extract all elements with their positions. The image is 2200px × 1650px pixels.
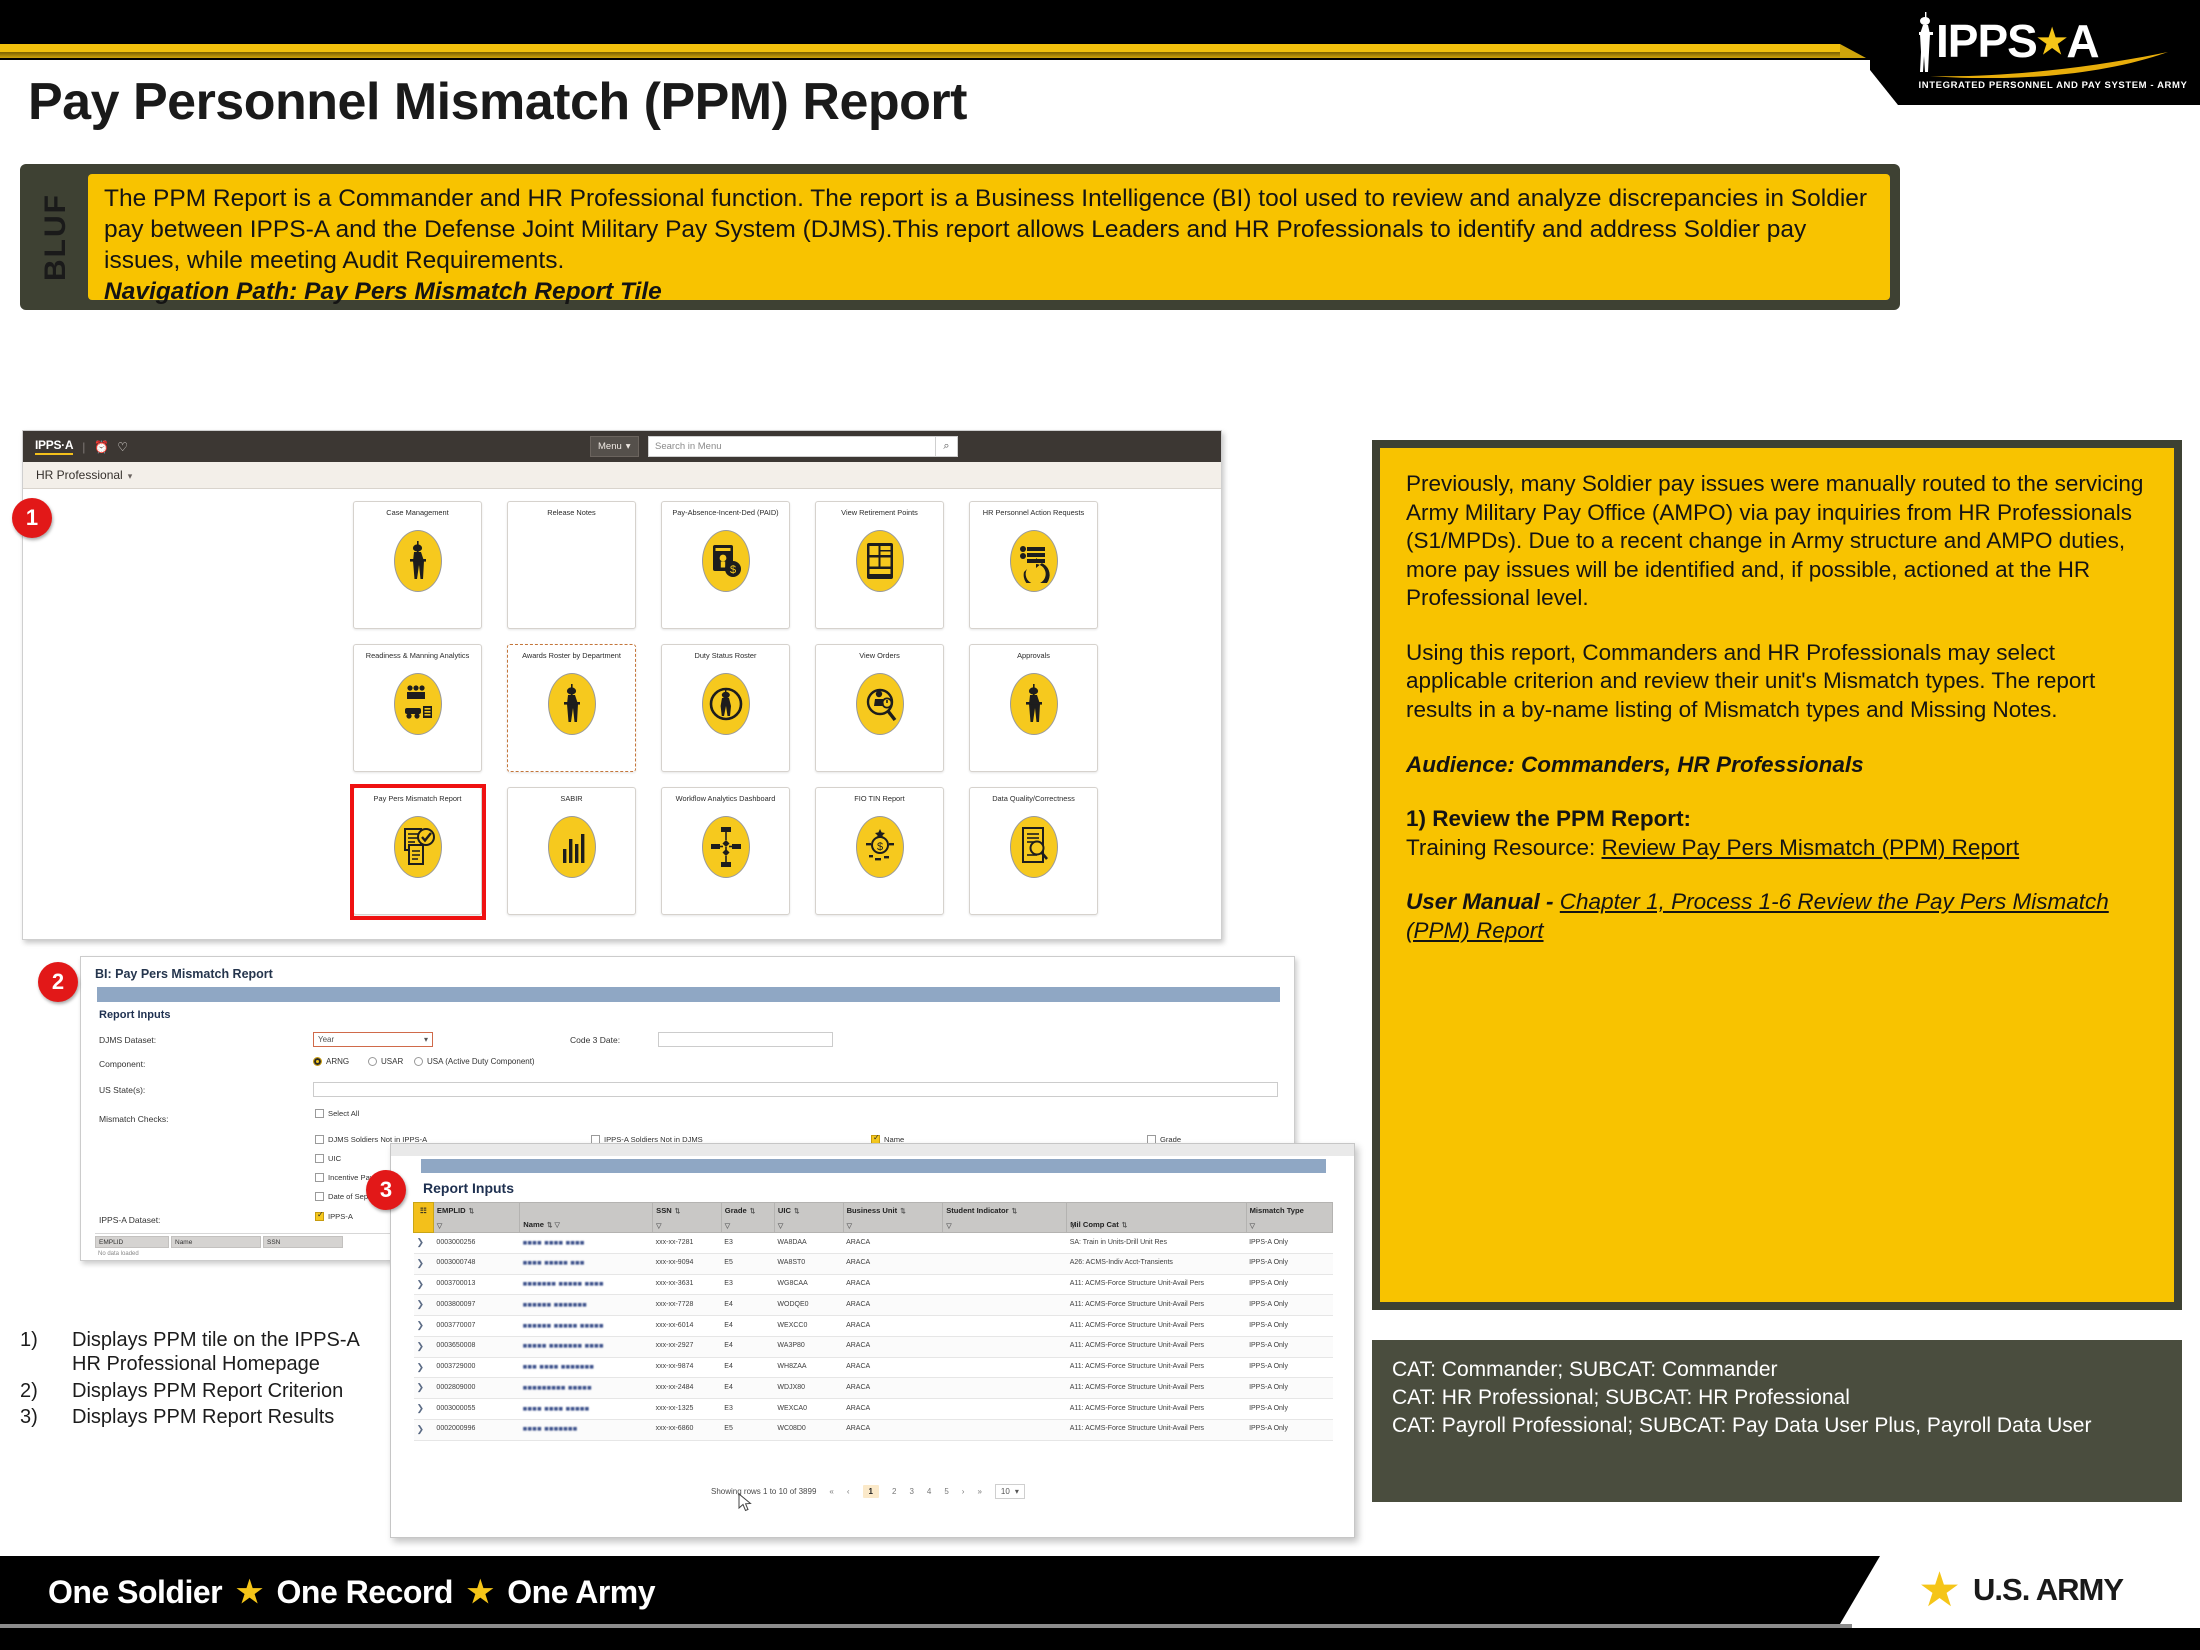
cell-business-unit: ARACA bbox=[843, 1274, 943, 1295]
note-number: 2) bbox=[20, 1379, 72, 1403]
checkbox-icon bbox=[315, 1212, 324, 1221]
cell-ssn: xxx-xx-6014 bbox=[653, 1316, 722, 1337]
chevron-down-icon: ▾ bbox=[424, 1035, 428, 1044]
tile-label: Case Management bbox=[357, 509, 479, 518]
component-radio-arng[interactable]: ARNG bbox=[313, 1057, 349, 1066]
us-army-text: U.S. ARMY bbox=[1973, 1572, 2123, 1608]
fio-tin-icon: $ bbox=[856, 816, 904, 878]
radio-dot-icon bbox=[313, 1057, 322, 1066]
filter-icon[interactable]: ▽ bbox=[656, 1222, 661, 1230]
cell-uic: WEXCA0 bbox=[774, 1399, 843, 1420]
col-label: SSN bbox=[656, 1206, 672, 1215]
component-label: Component: bbox=[99, 1059, 145, 1069]
sort-icon: ⇅ bbox=[675, 1208, 680, 1215]
preview-col-ssn: SSN bbox=[263, 1236, 343, 1248]
cell-ssn: xxx-xx-9874 bbox=[653, 1357, 722, 1378]
cell-student-indicator bbox=[943, 1419, 1067, 1440]
cell-business-unit: ARACA bbox=[843, 1399, 943, 1420]
col-label: EMPLID bbox=[437, 1206, 466, 1215]
cell-ssn: xxx-xx-1325 bbox=[653, 1399, 722, 1420]
checkbox-icon bbox=[315, 1109, 324, 1118]
search-icon[interactable]: ⌕ bbox=[935, 436, 958, 457]
tile-label: Pay-Absence-Incent-Ded (PAID) bbox=[665, 509, 787, 518]
tile-grid: Case ManagementRelease NotesPay-Absence-… bbox=[353, 501, 1098, 915]
row-expand-icon[interactable]: ❯ bbox=[414, 1233, 434, 1254]
page-button-2[interactable]: 2 bbox=[892, 1487, 896, 1496]
sort-icon: ⇅ bbox=[547, 1222, 552, 1229]
footer-tag-3: One Army bbox=[507, 1574, 655, 1611]
tile-label: Readiness & Manning Analytics bbox=[357, 652, 479, 661]
cell-name: ■■■■■■■ ■■■■■ ■■■■ bbox=[520, 1274, 653, 1295]
cell-student-indicator bbox=[943, 1233, 1067, 1254]
footer-tagline: One Soldier ★ One Record ★ One Army bbox=[48, 1574, 655, 1611]
page-button-4[interactable]: 4 bbox=[927, 1487, 931, 1496]
sort-icon: ⇅ bbox=[469, 1208, 474, 1215]
audience-text: Audience: Commanders, HR Professionals bbox=[1406, 751, 2148, 780]
form-blue-bar bbox=[97, 987, 1280, 1002]
results-heading: Report Inputs bbox=[423, 1180, 514, 1196]
filter-icon[interactable]: ▽ bbox=[1070, 1222, 1075, 1230]
row-expand-icon[interactable]: ❯ bbox=[414, 1336, 434, 1357]
cell-uic: WEXCC0 bbox=[774, 1316, 843, 1337]
cell-emplid: 0003000748 bbox=[433, 1253, 519, 1274]
tile-fio-tin-report[interactable]: FIO TIN Report$ bbox=[815, 787, 944, 915]
tile-pay-pers-mismatch-report[interactable]: Pay Pers Mismatch Report bbox=[353, 787, 482, 915]
filter-icon[interactable]: ▽ bbox=[725, 1222, 730, 1230]
cell-mismatch-type: IPPS-A Only bbox=[1246, 1399, 1332, 1420]
preview-col-emplid: EMPLID bbox=[95, 1236, 169, 1248]
djms-dataset-value: Year bbox=[318, 1035, 334, 1044]
row-expand-icon[interactable]: ❯ bbox=[414, 1378, 434, 1399]
cell-business-unit: ARACA bbox=[843, 1378, 943, 1399]
footer-bottom-bar bbox=[0, 1628, 2200, 1650]
component-radio-usar[interactable]: USAR bbox=[368, 1057, 403, 1066]
cat-line-2: CAT: HR Professional; SUBCAT: HR Profess… bbox=[1392, 1384, 2162, 1412]
mismatch-checks-label: Mismatch Checks: bbox=[99, 1114, 168, 1124]
right-info-panel-body: Previously, many Soldier pay issues were… bbox=[1380, 448, 2174, 1302]
cell-mismatch-type: IPPS-A Only bbox=[1246, 1357, 1332, 1378]
cell-mil-comp-cat: SA: Train in Units-Drill Unit Res bbox=[1067, 1233, 1246, 1254]
row-expand-icon[interactable]: ❯ bbox=[414, 1419, 434, 1440]
cell-ssn: xxx-xx-6860 bbox=[653, 1419, 722, 1440]
filter-icon[interactable]: ▽ bbox=[847, 1222, 852, 1230]
navbar-brand[interactable]: IPPS·A bbox=[35, 438, 73, 455]
tile-label: Duty Status Roster bbox=[665, 652, 787, 661]
cell-uic: WA3P80 bbox=[774, 1336, 843, 1357]
awards-soldier-icon bbox=[548, 673, 596, 735]
cell-mil-comp-cat: A11: ACMS-Force Structure Unit-Avail Per… bbox=[1067, 1357, 1246, 1378]
callout-notes-list: 1) Displays PPM tile on the IPPS-A HR Pr… bbox=[20, 1328, 370, 1432]
code3-date-input[interactable] bbox=[658, 1032, 833, 1047]
note-text: Displays PPM Report Criterion bbox=[72, 1379, 343, 1403]
army-star-icon: ★ bbox=[1918, 1562, 1961, 1618]
soldier-icon bbox=[394, 530, 442, 592]
role-selector[interactable]: HR Professional▾ bbox=[36, 468, 132, 482]
step1-title: 1) Review the PPM Report: bbox=[1406, 806, 1691, 831]
ipps-dataset-checkbox[interactable]: IPPS-A bbox=[315, 1212, 353, 1221]
sort-icon: ⇅ bbox=[1012, 1208, 1017, 1215]
cell-student-indicator bbox=[943, 1378, 1067, 1399]
col-name[interactable]: Name⇅ ▽ bbox=[520, 1203, 653, 1233]
tile-label: Pay Pers Mismatch Report bbox=[357, 795, 479, 804]
training-resource-label: Training Resource: bbox=[1406, 835, 1602, 860]
cell-name: ■■■■■■ ■■■■■ ■■■■■ bbox=[520, 1316, 653, 1337]
cell-name: ■■■■ ■■■■■■■ bbox=[520, 1419, 653, 1440]
cell-ssn: xxx-xx-2927 bbox=[653, 1336, 722, 1357]
showing-rows-text: Showing rows 1 to 10 of 3899 bbox=[711, 1487, 816, 1496]
sort-icon: ⇅ bbox=[794, 1208, 799, 1215]
tile-label: HR Personnel Action Requests bbox=[973, 509, 1095, 518]
cell-emplid: 0002809000 bbox=[433, 1378, 519, 1399]
select-all-checkbox[interactable]: Select All bbox=[315, 1109, 359, 1118]
col-label: Mismatch Type bbox=[1250, 1206, 1304, 1215]
logo-a-text: A bbox=[2066, 15, 2098, 67]
note-number: 3) bbox=[20, 1405, 72, 1429]
cell-ssn: xxx-xx-7728 bbox=[653, 1295, 722, 1316]
menu-button[interactable]: Menu ▾ bbox=[590, 436, 639, 457]
col-label: Business Unit bbox=[847, 1206, 898, 1215]
cell-student-indicator bbox=[943, 1399, 1067, 1420]
col-uic[interactable]: UIC⇅ ▽ bbox=[774, 1203, 843, 1233]
cell-business-unit: ARACA bbox=[843, 1419, 943, 1440]
cell-business-unit: ARACA bbox=[843, 1295, 943, 1316]
ipps-a-logo: IPPS★A INTEGRATED PERSONNEL AND PAY SYST… bbox=[1870, 0, 2200, 105]
tile-data-quality-correctness[interactable]: Data Quality/Correctness bbox=[969, 787, 1098, 915]
preview-col-label: Name bbox=[175, 1239, 192, 1246]
row-expand-icon[interactable]: ❯ bbox=[414, 1274, 434, 1295]
col-label: Mil Comp Cat bbox=[1070, 1220, 1119, 1229]
component-option-label: ARNG bbox=[326, 1057, 349, 1066]
tile-label: View Orders bbox=[819, 652, 941, 661]
cell-mil-comp-cat: A11: ACMS-Force Structure Unit-Avail Per… bbox=[1067, 1316, 1246, 1337]
logo-star-icon: ★ bbox=[2037, 25, 2066, 59]
view-orders-icon bbox=[856, 673, 904, 735]
tile-label: FIO TIN Report bbox=[819, 795, 941, 804]
table-row[interactable]: ❯0002809000■■■■■■■■■ ■■■■■xxx-xx-2484E4W… bbox=[414, 1378, 1333, 1399]
checkbox-icon bbox=[315, 1192, 324, 1201]
footer-tag-1: One Soldier bbox=[48, 1574, 222, 1611]
menu-button-label: Menu bbox=[598, 441, 622, 452]
cell-mismatch-type: IPPS-A Only bbox=[1246, 1274, 1332, 1295]
tile-release-notes[interactable]: Release Notes bbox=[507, 501, 636, 629]
tile-sabir[interactable]: SABIR bbox=[507, 787, 636, 915]
cat-line-3: CAT: Payroll Professional; SUBCAT: Pay D… bbox=[1392, 1412, 2162, 1440]
cell-student-indicator bbox=[943, 1274, 1067, 1295]
pay-dollar-icon: $ bbox=[702, 530, 750, 592]
us-states-label: US State(s): bbox=[99, 1085, 145, 1095]
list-item: 1) Displays PPM tile on the IPPS-A HR Pr… bbox=[20, 1328, 370, 1377]
list-item: 3) Displays PPM Report Results bbox=[20, 1405, 370, 1429]
cell-mil-comp-cat: A11: ACMS-Force Structure Unit-Avail Per… bbox=[1067, 1274, 1246, 1295]
preview-no-data: No data loaded bbox=[98, 1251, 139, 1257]
table-row[interactable]: ❯0003770007■■■■■■ ■■■■■ ■■■■■xxx-xx-6014… bbox=[414, 1316, 1333, 1337]
chevron-down-icon: ▾ bbox=[1015, 1487, 1019, 1496]
results-table: ☷ EMPLID⇅ ▽ Name⇅ ▽ SSN⇅ ▽ Grade⇅ ▽ bbox=[413, 1202, 1333, 1441]
row-expand-icon[interactable]: ❯ bbox=[414, 1357, 434, 1378]
role-bar: HR Professional▾ bbox=[23, 462, 1221, 489]
cell-grade: E4 bbox=[721, 1357, 774, 1378]
table-row[interactable]: ❯0003800097■■■■■■ ■■■■■■■xxx-xx-7728E4WO… bbox=[414, 1295, 1333, 1316]
cell-mil-comp-cat: A11: ACMS-Force Structure Unit-Avail Per… bbox=[1067, 1336, 1246, 1357]
right-info-panel: Previously, many Soldier pay issues were… bbox=[1372, 440, 2182, 1310]
page-size-value: 10 bbox=[1001, 1487, 1010, 1496]
search-input[interactable]: Search in Menu bbox=[648, 436, 958, 457]
col-grade[interactable]: Grade⇅ ▽ bbox=[721, 1203, 774, 1233]
tile-label: Workflow Analytics Dashboard bbox=[665, 795, 787, 804]
table-row[interactable]: ❯0003000055■■■■ ■■■■ ■■■■■xxx-xx-1325E3W… bbox=[414, 1399, 1333, 1420]
cell-business-unit: ARACA bbox=[843, 1253, 943, 1274]
readiness-icon bbox=[394, 673, 442, 735]
bluf-body: The PPM Report is a Commander and HR Pro… bbox=[88, 174, 1890, 300]
list-item: 2) Displays PPM Report Criterion bbox=[20, 1379, 370, 1403]
col-mil-comp-cat[interactable]: Mil Comp Cat⇅ ▽ bbox=[1067, 1203, 1246, 1233]
row-expand-icon[interactable]: ❯ bbox=[414, 1399, 434, 1420]
cell-emplid: 0003800097 bbox=[433, 1295, 519, 1316]
right-paragraph-2: Using this report, Commanders and HR Pro… bbox=[1406, 639, 2148, 725]
sort-icon: ⇅ bbox=[1122, 1222, 1127, 1229]
tile-view-orders[interactable]: View Orders bbox=[815, 644, 944, 772]
approvals-soldier-icon bbox=[1010, 673, 1058, 735]
tile-workflow-analytics-dashboard[interactable]: Workflow Analytics Dashboard bbox=[661, 787, 790, 915]
role-label: HR Professional bbox=[36, 468, 123, 482]
cell-mil-comp-cat: A11: ACMS-Force Structure Unit-Avail Per… bbox=[1067, 1399, 1246, 1420]
row-expand-icon[interactable]: ❯ bbox=[414, 1316, 434, 1337]
cell-uic: WC08D0 bbox=[774, 1419, 843, 1440]
cell-mil-comp-cat: A11: ACMS-Force Structure Unit-Avail Per… bbox=[1067, 1378, 1246, 1399]
heart-icon[interactable]: ♡ bbox=[117, 440, 128, 454]
chevron-down-icon: ▾ bbox=[626, 441, 631, 452]
cell-grade: E4 bbox=[721, 1295, 774, 1316]
cell-grade: E4 bbox=[721, 1316, 774, 1337]
cell-name: ■■■■■ ■■■■■■■ ■■■■ bbox=[520, 1336, 653, 1357]
table-row[interactable]: ❯0003729000■■■ ■■■■ ■■■■■■■xxx-xx-9874E4… bbox=[414, 1357, 1333, 1378]
col-label: UIC bbox=[778, 1206, 791, 1215]
mismatch-report-icon bbox=[394, 816, 442, 878]
duty-status-icon bbox=[702, 673, 750, 735]
tile-label: Data Quality/Correctness bbox=[973, 795, 1095, 804]
cell-name: ■■■■■■■■■ ■■■■■ bbox=[520, 1378, 653, 1399]
col-expand-toggle[interactable]: ☷ bbox=[414, 1203, 434, 1233]
us-army-logo: ★ U.S. ARMY bbox=[1880, 1556, 2200, 1624]
chevron-down-icon: ▾ bbox=[128, 471, 133, 481]
footer: One Soldier ★ One Record ★ One Army ★ U.… bbox=[0, 1552, 2200, 1650]
note-text: Displays PPM tile on the IPPS-A HR Profe… bbox=[72, 1328, 370, 1377]
cell-uic: WA8ST0 bbox=[774, 1253, 843, 1274]
page-button-1[interactable]: 1 bbox=[863, 1485, 879, 1498]
cell-grade: E5 bbox=[721, 1419, 774, 1440]
next-page-button[interactable]: › bbox=[962, 1487, 965, 1496]
checkbox-icon bbox=[315, 1154, 324, 1163]
radio-dot-icon bbox=[414, 1057, 423, 1066]
svg-text:$: $ bbox=[729, 564, 735, 576]
cell-grade: E4 bbox=[721, 1336, 774, 1357]
cell-name: ■■■ ■■■■ ■■■■■■■ bbox=[520, 1357, 653, 1378]
check-label: UIC bbox=[328, 1154, 341, 1163]
cell-ssn: xxx-xx-7281 bbox=[653, 1233, 722, 1254]
page-title: Pay Personnel Mismatch (PPM) Report bbox=[28, 72, 967, 132]
retirement-points-icon bbox=[856, 530, 904, 592]
bi-report-title: BI: Pay Pers Mismatch Report bbox=[95, 967, 273, 981]
filter-icon[interactable]: ▽ bbox=[946, 1222, 951, 1230]
col-emplid[interactable]: EMPLID⇅ ▽ bbox=[433, 1203, 519, 1233]
cell-student-indicator bbox=[943, 1316, 1067, 1337]
cell-mismatch-type: IPPS-A Only bbox=[1246, 1253, 1332, 1274]
sort-icon: ⇅ bbox=[750, 1208, 755, 1215]
tile-view-retirement-points[interactable]: View Retirement Points bbox=[815, 501, 944, 629]
cell-uic: WDJX80 bbox=[774, 1378, 843, 1399]
page-button-3[interactable]: 3 bbox=[909, 1487, 913, 1496]
first-page-button[interactable]: « bbox=[829, 1487, 833, 1496]
filter-icon[interactable]: ▽ bbox=[1250, 1222, 1255, 1230]
cell-uic: WA8DAA bbox=[774, 1233, 843, 1254]
cell-mismatch-type: IPPS-A Only bbox=[1246, 1295, 1332, 1316]
col-label: Name bbox=[523, 1220, 544, 1229]
callout-marker-2: 2 bbox=[38, 962, 78, 1002]
component-option-label: USA (Active Duty Component) bbox=[427, 1057, 535, 1066]
pagination: Showing rows 1 to 10 of 3899 « ‹ 1 2 3 4… bbox=[711, 1484, 1025, 1499]
cell-name: ■■■■ ■■■■ ■■■■ bbox=[520, 1233, 653, 1254]
cell-uic: WG8CAA bbox=[774, 1274, 843, 1295]
djms-dataset-select[interactable]: Year ▾ bbox=[313, 1032, 433, 1047]
bluf-label: BLUF bbox=[30, 174, 82, 300]
col-mismatch-type[interactable]: Mismatch Type ▽ bbox=[1246, 1203, 1332, 1233]
filter-icon[interactable]: ▽ bbox=[555, 1222, 560, 1229]
cell-emplid: 0003729000 bbox=[433, 1357, 519, 1378]
tile-readiness-manning-analytics[interactable]: Readiness & Manning Analytics bbox=[353, 644, 482, 772]
clock-icon[interactable]: ⏰ bbox=[94, 440, 109, 454]
table-row[interactable]: ❯0003000748■■■■ ■■■■■ ■■■xxx-xx-9094E5WA… bbox=[414, 1253, 1333, 1274]
col-label: Grade bbox=[725, 1206, 747, 1215]
cell-student-indicator bbox=[943, 1336, 1067, 1357]
cell-emplid: 0003770007 bbox=[433, 1316, 519, 1337]
navbar-divider: | bbox=[82, 440, 85, 454]
logo-tagline: INTEGRATED PERSONNEL AND PAY SYSTEM - AR… bbox=[1918, 80, 2188, 91]
cell-uic: WODQE0 bbox=[774, 1295, 843, 1316]
col-label: Student Indicator bbox=[946, 1206, 1008, 1215]
cell-emplid: 0002000996 bbox=[433, 1419, 519, 1440]
tile-approvals[interactable]: Approvals bbox=[969, 644, 1098, 772]
checkbox-icon bbox=[315, 1135, 324, 1144]
action-request-icon bbox=[1010, 530, 1058, 592]
cell-mismatch-type: IPPS-A Only bbox=[1246, 1316, 1332, 1337]
workflow-icon bbox=[702, 816, 750, 878]
screenshot-homepage-tiles: IPPS·A | ⏰ ♡ Menu ▾ Search in Menu ⌕ HR … bbox=[22, 430, 1222, 940]
cell-name: ■■■■■■ ■■■■■■■ bbox=[520, 1295, 653, 1316]
row-expand-icon[interactable]: ❯ bbox=[414, 1295, 434, 1316]
cell-business-unit: ARACA bbox=[843, 1316, 943, 1337]
tile-label: Release Notes bbox=[511, 509, 633, 518]
tile-label: View Retirement Points bbox=[819, 509, 941, 518]
table-row[interactable]: ❯0003700013■■■■■■■ ■■■■■ ■■■■xxx-xx-3631… bbox=[414, 1274, 1333, 1295]
page-button-5[interactable]: 5 bbox=[944, 1487, 948, 1496]
tile-hr-personnel-action-requests[interactable]: HR Personnel Action Requests bbox=[969, 501, 1098, 629]
col-business-unit[interactable]: Business Unit⇅ ▽ bbox=[843, 1203, 943, 1233]
ipps-dataset-check-label: IPPS-A bbox=[328, 1212, 353, 1221]
tile-label: SABIR bbox=[511, 795, 633, 804]
djms-dataset-label: DJMS Dataset: bbox=[99, 1035, 156, 1045]
cell-grade: E3 bbox=[721, 1274, 774, 1295]
star-icon: ★ bbox=[467, 1575, 493, 1610]
training-resource-link[interactable]: Review Pay Pers Mismatch (PPM) Report bbox=[1602, 835, 2020, 860]
cell-student-indicator bbox=[943, 1357, 1067, 1378]
col-ssn[interactable]: SSN⇅ ▽ bbox=[653, 1203, 722, 1233]
cell-emplid: 0003650008 bbox=[433, 1336, 519, 1357]
screenshot-report-results: Report Inputs ☷ EMPLID⇅ ▽ Name⇅ ▽ SSN⇅ bbox=[390, 1143, 1355, 1538]
bar-chart-icon bbox=[548, 816, 596, 878]
preview-col-name: Name bbox=[171, 1236, 261, 1248]
tile-awards-roster-by-department[interactable]: Awards Roster by Department bbox=[507, 644, 636, 772]
cell-ssn: xxx-xx-9094 bbox=[653, 1253, 722, 1274]
us-states-input[interactable] bbox=[313, 1082, 1278, 1097]
results-preview-grid: EMPLID Name SSN No data loaded bbox=[95, 1233, 415, 1259]
tile-pay-absence-incent-ded-paid[interactable]: Pay-Absence-Incent-Ded (PAID)$ bbox=[661, 501, 790, 629]
radio-dot-icon bbox=[368, 1057, 377, 1066]
cell-emplid: 0003000256 bbox=[433, 1233, 519, 1254]
preview-col-label: SSN bbox=[267, 1239, 280, 1246]
ipps-dataset-label: IPPS-A Dataset: bbox=[99, 1215, 160, 1225]
callout-marker-3: 3 bbox=[366, 1170, 406, 1210]
results-blue-bar bbox=[421, 1159, 1326, 1173]
cell-student-indicator bbox=[943, 1295, 1067, 1316]
table-header-row: ☷ EMPLID⇅ ▽ Name⇅ ▽ SSN⇅ ▽ Grade⇅ ▽ bbox=[414, 1203, 1333, 1233]
tile-duty-status-roster[interactable]: Duty Status Roster bbox=[661, 644, 790, 772]
component-option-label: USAR bbox=[381, 1057, 403, 1066]
cell-emplid: 0003700013 bbox=[433, 1274, 519, 1295]
cell-emplid: 0003000055 bbox=[433, 1399, 519, 1420]
table-row[interactable]: ❯0002000996■■■■ ■■■■■■■xxx-xx-6860E5WC08… bbox=[414, 1419, 1333, 1440]
filter-icon[interactable]: ▽ bbox=[778, 1222, 783, 1230]
cell-mismatch-type: IPPS-A Only bbox=[1246, 1419, 1332, 1440]
bluf-label-text: BLUF bbox=[39, 193, 73, 281]
cell-mismatch-type: IPPS-A Only bbox=[1246, 1233, 1332, 1254]
star-icon: ★ bbox=[236, 1575, 262, 1610]
cell-name: ■■■■ ■■■■■ ■■■ bbox=[520, 1253, 653, 1274]
cell-mismatch-type: IPPS-A Only bbox=[1246, 1378, 1332, 1399]
user-manual-label: User Manual - bbox=[1406, 889, 1560, 914]
component-radio-usa[interactable]: USA (Active Duty Component) bbox=[414, 1057, 535, 1066]
data-quality-icon bbox=[1010, 816, 1058, 878]
table-row[interactable]: ❯0003650008■■■■■ ■■■■■■■ ■■■■xxx-xx-2927… bbox=[414, 1336, 1333, 1357]
page-size-select[interactable]: 10 ▾ bbox=[995, 1484, 1025, 1499]
cell-grade: E5 bbox=[721, 1253, 774, 1274]
prev-page-button[interactable]: ‹ bbox=[847, 1487, 850, 1496]
cell-grade: E3 bbox=[721, 1399, 774, 1420]
tile-label: Awards Roster by Department bbox=[511, 652, 633, 661]
note-text: Displays PPM Report Results bbox=[72, 1405, 334, 1429]
right-paragraph-1: Previously, many Soldier pay issues were… bbox=[1406, 470, 2148, 613]
cell-uic: WH8ZAA bbox=[774, 1357, 843, 1378]
select-all-label: Select All bbox=[328, 1109, 359, 1118]
last-page-button[interactable]: » bbox=[977, 1487, 981, 1496]
soldier-silhouette-icon bbox=[1914, 12, 1938, 74]
col-student-indicator[interactable]: Student Indicator⇅ ▽ bbox=[943, 1203, 1067, 1233]
cell-ssn: xxx-xx-3631 bbox=[653, 1274, 722, 1295]
cell-business-unit: ARACA bbox=[843, 1336, 943, 1357]
filter-icon[interactable]: ▽ bbox=[437, 1222, 442, 1230]
cell-business-unit: ARACA bbox=[843, 1233, 943, 1254]
svg-text:$: $ bbox=[876, 841, 882, 853]
tile-label: Approvals bbox=[973, 652, 1095, 661]
cell-mil-comp-cat: A11: ACMS-Force Structure Unit-Avail Per… bbox=[1067, 1295, 1246, 1316]
cell-ssn: xxx-xx-2484 bbox=[653, 1378, 722, 1399]
cell-business-unit: ARACA bbox=[843, 1357, 943, 1378]
code3-date-label: Code 3 Date: bbox=[570, 1035, 620, 1045]
search-placeholder: Search in Menu bbox=[655, 441, 722, 452]
bluf-nav-path: Navigation Path: Pay Pers Mismatch Repor… bbox=[104, 277, 1874, 308]
tile-case-management[interactable]: Case Management bbox=[353, 501, 482, 629]
table-row[interactable]: ❯0003000256■■■■ ■■■■ ■■■■xxx-xx-7281E3WA… bbox=[414, 1233, 1333, 1254]
row-expand-icon[interactable]: ❯ bbox=[414, 1253, 434, 1274]
